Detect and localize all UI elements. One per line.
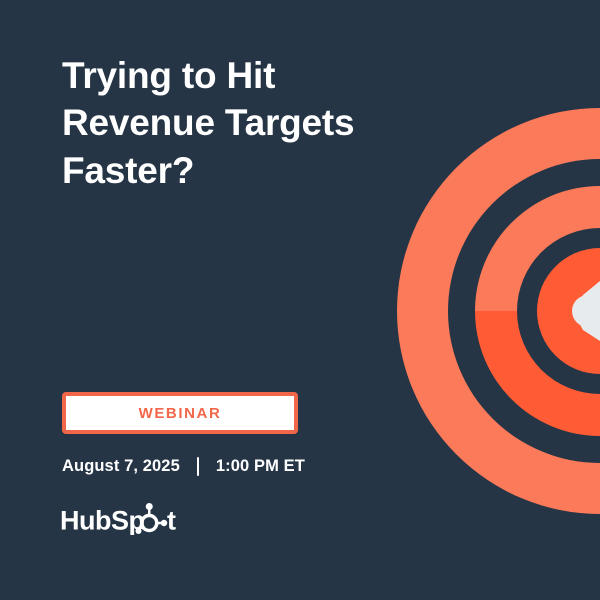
page-title: Trying to Hit Revenue Targets Faster? <box>62 52 392 194</box>
event-date: August 7, 2025 <box>62 457 180 476</box>
event-time: 1:00 PM ET <box>216 457 305 476</box>
meta-divider <box>197 457 199 476</box>
hubspot-wordmark-part-two: t <box>167 506 176 536</box>
card-content: Trying to Hit Revenue Targets Faster? WE… <box>0 0 600 600</box>
brand-name: HubSpot <box>0 0 1 1</box>
webinar-badge-button[interactable]: WEBINAR <box>62 392 298 434</box>
hubspot-logo: HubSp t <box>60 503 190 537</box>
webinar-promo-card: Trying to Hit Revenue Targets Faster? WE… <box>0 0 600 600</box>
webinar-badge-label: WEBINAR <box>139 405 222 422</box>
hubspot-wordmark-part-one: HubSp <box>60 506 145 536</box>
event-meta: August 7, 2025 1:00 PM ET <box>62 457 305 476</box>
